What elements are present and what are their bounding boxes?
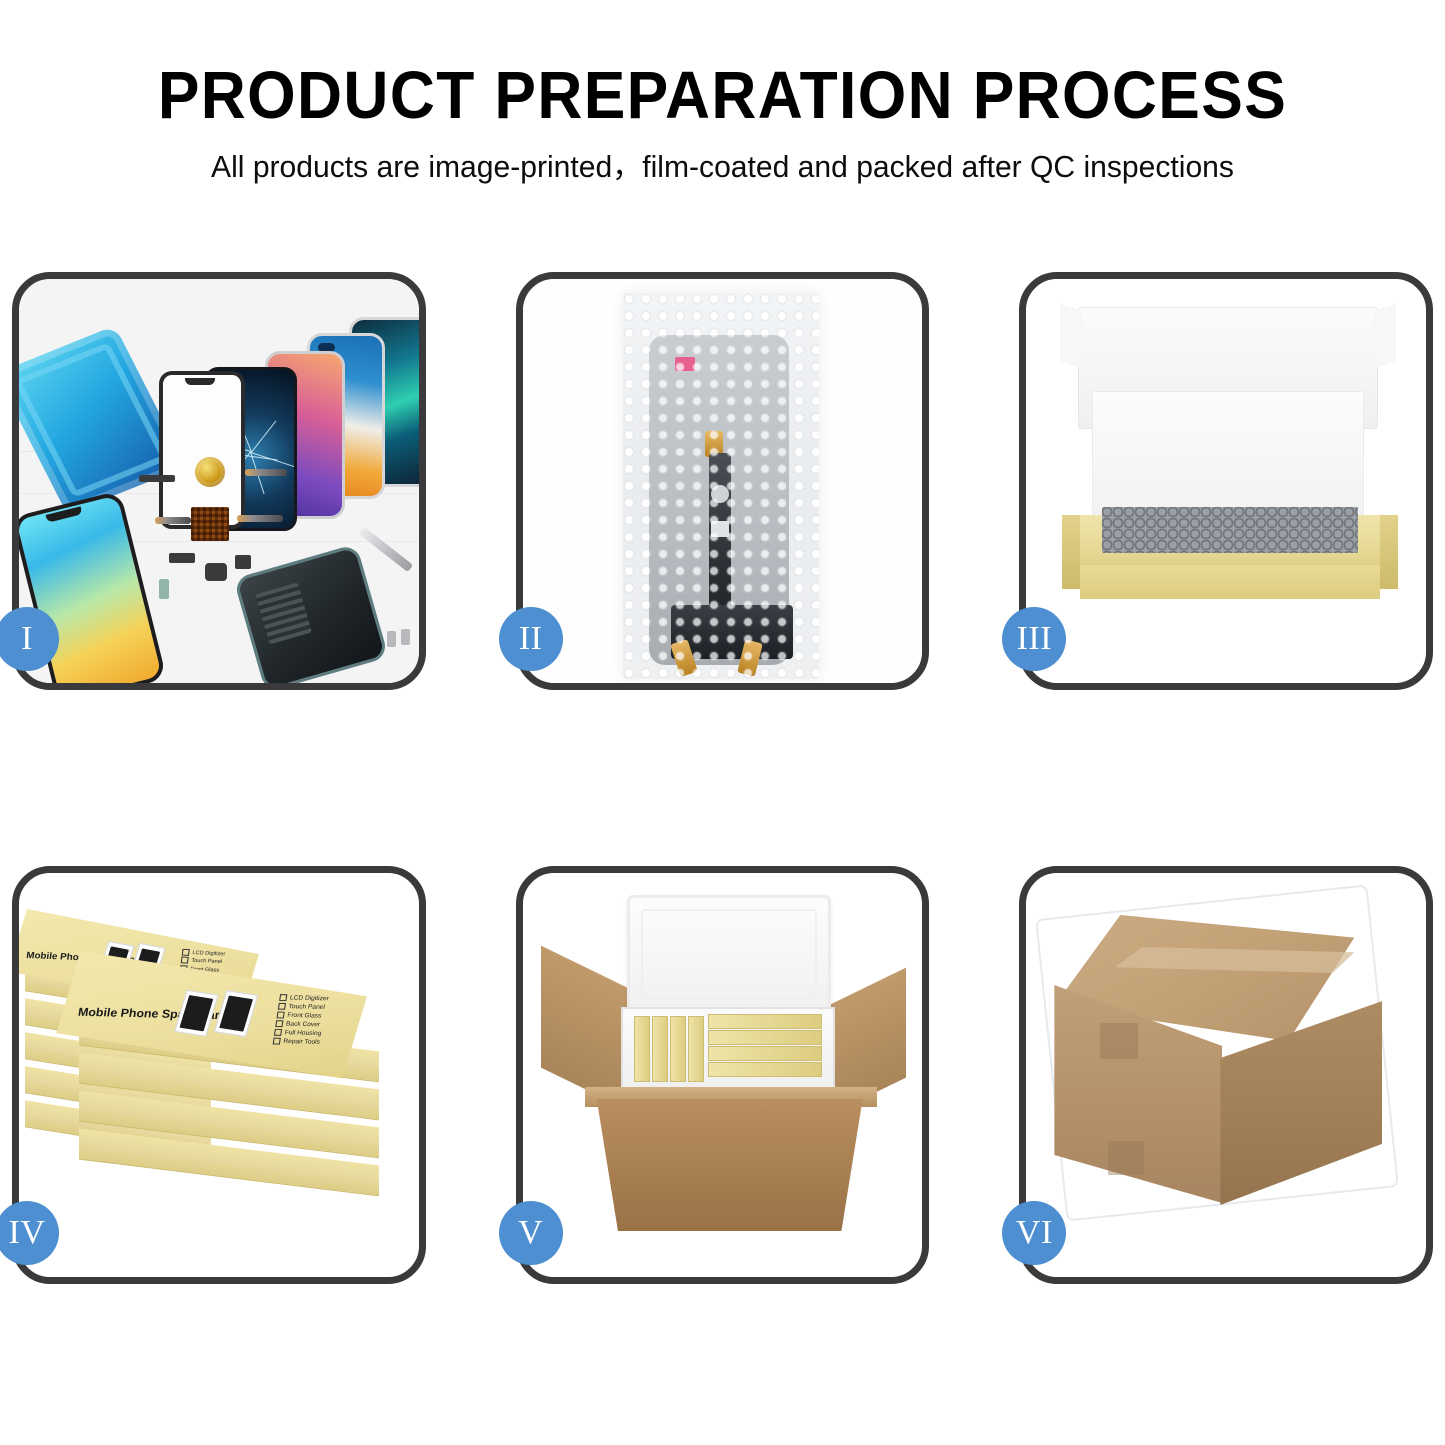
white-foam-sheet: [1092, 391, 1364, 519]
box-right-flap: [1378, 515, 1398, 589]
process-panel-6: VI: [1019, 866, 1433, 1284]
box-thumb-front-1: [174, 990, 219, 1037]
panel-1-image: [19, 279, 419, 683]
flex-cable-1: [245, 469, 287, 476]
page-title: PRODUCT PREPARATION PROCESS: [51, 62, 1395, 129]
sim-tray: [159, 579, 169, 599]
panel-6-image: [1026, 873, 1426, 1277]
process-panel-1: I: [12, 272, 426, 690]
process-row-1: I: [12, 272, 1433, 690]
panel-5-numeral-badge: V: [499, 1201, 563, 1265]
panel-6-numeral-badge: VI: [1002, 1201, 1066, 1265]
screw-2: [401, 629, 410, 645]
process-panel-grid: I: [12, 272, 1433, 1284]
small-part-2: [235, 555, 251, 569]
page-header: PRODUCT PREPARATION PROCESS All products…: [0, 0, 1445, 182]
process-panel-3: III: [1019, 272, 1433, 690]
foam-cooler-lid: [627, 895, 831, 1013]
packed-box-8: [709, 1063, 821, 1076]
process-panel-5: V: [516, 866, 930, 1284]
carton-body: [597, 1099, 863, 1231]
packed-box-3: [671, 1017, 685, 1081]
back-housing: [233, 544, 389, 683]
flex-cable-2: [155, 517, 191, 524]
packed-box-5: [709, 1015, 821, 1028]
camera-module: [205, 563, 227, 581]
panel-2-numeral-badge: II: [499, 607, 563, 671]
process-panel-4: Mobile Phone Spare Parts LCD Digitizer T…: [12, 866, 426, 1284]
blank-front-glass: [159, 371, 245, 529]
packed-box-4: [689, 1017, 703, 1081]
page-subtitle: All products are image-printed，film-coat…: [22, 151, 1424, 182]
bubble-wrap-bag: [623, 293, 819, 679]
tape-tab-upper: [1100, 1023, 1138, 1059]
packed-box-1: [635, 1017, 649, 1081]
ic-shield: [711, 521, 729, 537]
checklist-item: Repair Tools: [272, 1038, 322, 1048]
panel-4-image: Mobile Phone Spare Parts LCD Digitizer T…: [19, 873, 419, 1277]
bubble-wrap-filling: [1102, 507, 1358, 553]
process-panel-2: II: [516, 272, 930, 690]
screen-assembly: [649, 335, 789, 665]
panel-2-image: [523, 279, 923, 683]
ic-chip: [191, 507, 229, 541]
packed-box-6: [709, 1031, 821, 1044]
tweezers-tool: [359, 527, 413, 572]
panel-3-image: [1026, 279, 1426, 683]
packed-box-2: [653, 1017, 667, 1081]
process-row-2: Mobile Phone Spare Parts LCD Digitizer T…: [12, 866, 1433, 1284]
speaker-coil: [195, 457, 225, 487]
yellow-box-front: [1080, 565, 1380, 599]
small-part-1: [169, 553, 195, 563]
flex-cable-3: [237, 515, 283, 522]
box-thumb-front-2: [214, 990, 259, 1037]
panel-3-numeral-badge: III: [1002, 607, 1066, 671]
screw-1: [387, 631, 396, 647]
tape-tab-lower: [1108, 1141, 1144, 1175]
home-button: [711, 485, 729, 503]
packed-yellow-boxes: [635, 1013, 823, 1091]
panel-5-image: [523, 873, 923, 1277]
earpiece-mesh: [139, 475, 175, 482]
box-left-flap: [1062, 515, 1082, 589]
pink-label-sticker: [675, 357, 695, 371]
box-checklist-front: LCD Digitizer Touch Panel Front Glass Ba…: [272, 994, 329, 1047]
packed-box-7: [709, 1047, 821, 1060]
